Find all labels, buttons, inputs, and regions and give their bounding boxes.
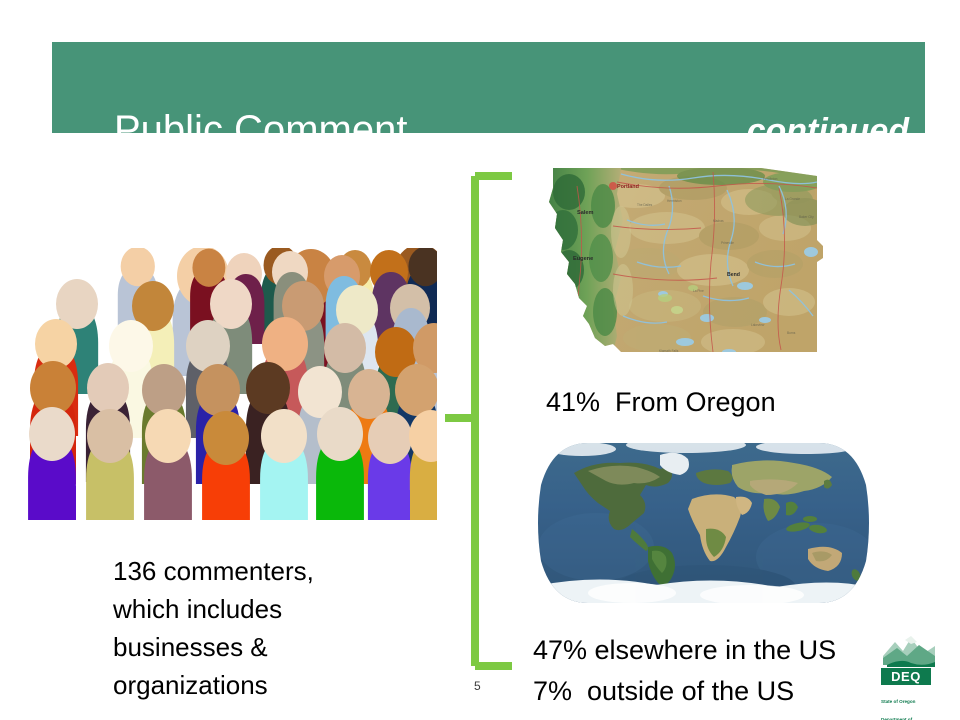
svg-text:Burns: Burns [787,331,796,335]
svg-text:Bend: Bend [727,272,740,278]
page-title-suffix: continued [747,112,909,151]
deq-wordmark: DEQ [881,668,931,685]
stat-label-international: 7% outside of the US [533,671,794,711]
svg-text:Klamath Falls: Klamath Falls [659,349,679,353]
svg-text:La Grande: La Grande [785,197,800,201]
curly-bracket-connector [440,168,520,672]
svg-text:Brookings: Brookings [531,343,546,347]
deq-logo: DEQ State of Oregon Department of Enviro… [881,634,943,712]
page-number: 5 [474,679,481,693]
svg-text:Prineville: Prineville [721,241,734,245]
oregon-landscape-icon [881,634,937,667]
crowd-caption-line-2: which includes [113,590,413,628]
svg-text:Pendleton: Pendleton [763,177,778,181]
svg-text:Portland: Portland [617,184,639,190]
deq-subtext-line-1: State of Oregon [881,699,943,705]
crowd-caption-line-3: businesses & [113,628,413,666]
svg-text:Florence: Florence [537,243,550,247]
svg-text:La Pine: La Pine [693,289,704,293]
svg-text:Waldport: Waldport [535,231,548,235]
svg-text:The Dalles: The Dalles [637,203,653,207]
svg-text:Lincoln City: Lincoln City [531,209,548,213]
svg-text:Eugene: Eugene [573,256,593,262]
world-map-globe [536,437,871,609]
svg-text:Coos Bay: Coos Bay [531,275,545,279]
svg-text:Bandon: Bandon [527,297,538,301]
stat-label-oregon: 41% From Oregon [546,382,776,422]
svg-text:Reedsport: Reedsport [529,259,544,263]
slide: Public Comment continued [0,0,960,720]
svg-text:Newport: Newport [533,221,545,225]
crowd-caption-line-4: organizations [113,666,413,704]
svg-text:Salem: Salem [577,210,594,216]
deq-subtext: State of Oregon Department of Environmen… [881,687,943,720]
svg-text:Madras: Madras [713,219,724,223]
title-bar: Public Comment continued [52,42,925,133]
crowd-of-people-illustration [12,248,437,520]
svg-text:Gold Beach: Gold Beach [527,327,544,331]
crowd-caption-line-1: 136 commenters, [113,552,413,590]
svg-text:Hermiston: Hermiston [667,199,682,203]
svg-text:Lakeview: Lakeview [751,323,765,327]
svg-text:Port Orford: Port Orford [529,313,545,317]
page-title: Public Comment [114,108,407,153]
stat-label-us: 47% elsewhere in the US [533,630,836,670]
crowd-caption: 136 commenters, which includes businesse… [113,552,413,704]
svg-text:Baker City: Baker City [799,215,814,219]
oregon-topographic-map: Portland Salem Eugene Bend Lincoln City … [517,166,831,362]
